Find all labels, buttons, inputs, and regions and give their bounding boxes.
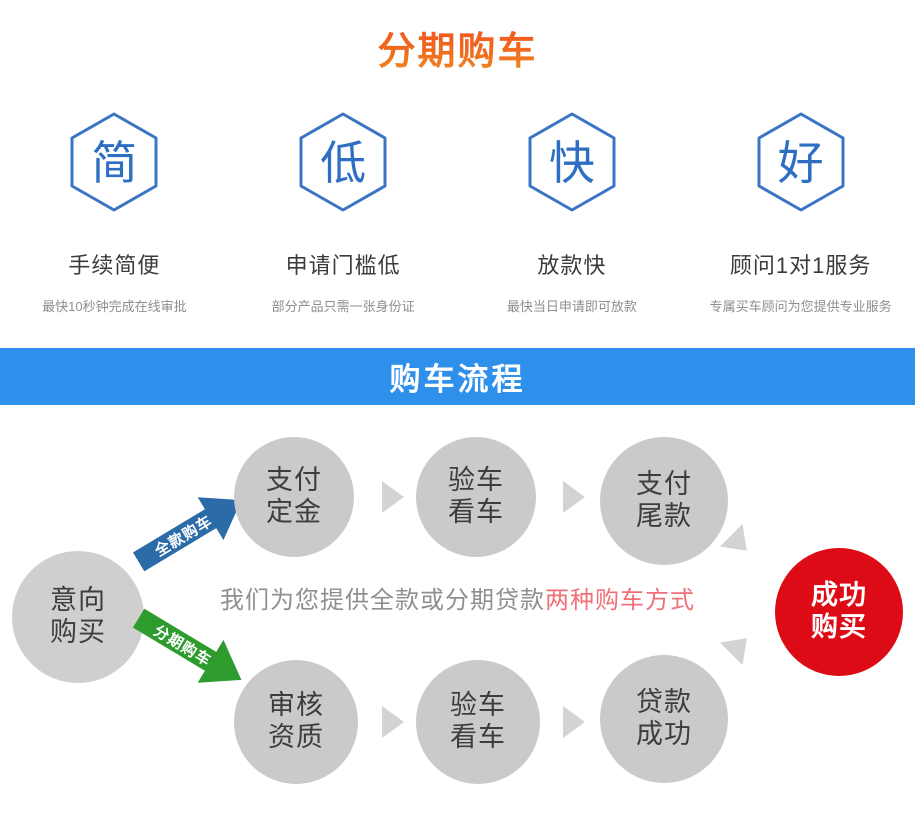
flow-node-start: 意向 购买	[12, 551, 144, 683]
page-title: 分期购车	[0, 20, 915, 75]
hexagon-char: 低	[320, 140, 366, 186]
feature-desc: 部分产品只需一张身份证	[272, 296, 415, 315]
flow-node-full-1: 支付 定金	[234, 437, 354, 557]
feature-desc: 最快10秒钟完成在线审批	[42, 296, 186, 315]
flow-node-line2: 成功	[636, 719, 692, 751]
flow-arrow-right-icon	[382, 481, 404, 513]
feature-title: 放款快	[537, 248, 606, 280]
feature-item: 快 放款快 最快当日申请即可放款	[458, 110, 687, 315]
feature-item: 简 手续简便 最快10秒钟完成在线审批	[0, 110, 229, 315]
flow-node-installment-3: 贷款 成功	[600, 655, 728, 783]
flow-center-note-highlight: 两种购车方式	[545, 587, 695, 614]
flow-node-line1: 审核	[268, 690, 324, 722]
hexagon-char: 简	[91, 140, 137, 186]
flow-arrow-diagonal-up-icon	[720, 627, 758, 665]
flow-node-line2: 看车	[450, 722, 506, 754]
section-banner-title: 购车流程	[390, 354, 526, 399]
flow-node-line2: 资质	[268, 722, 324, 754]
hexagon-low-icon: 低	[291, 110, 395, 214]
purchase-flow-diagram: 意向 购买 全款购车 分期购车 支付 定金 验车 看车	[0, 405, 915, 822]
flow-arrow-right-icon	[563, 481, 585, 513]
hexagon-fast-icon: 快	[520, 110, 624, 214]
feature-item: 低 申请门槛低 部分产品只需一张身份证	[229, 110, 458, 315]
flow-center-note-plain: 我们为您提供全款或分期贷款	[220, 587, 545, 614]
flow-node-line1: 验车	[450, 690, 506, 722]
hexagon-char: 快	[549, 140, 595, 186]
promo-page: 分期购车 简 手续简便 最快10秒钟完成在线审批 低 申请门槛低 部分产品只需一…	[0, 0, 915, 822]
flow-arrow-right-icon	[382, 706, 404, 738]
flow-node-installment-2: 验车 看车	[416, 660, 540, 784]
flow-node-line1: 贷款	[636, 687, 692, 719]
flow-node-line2: 定金	[266, 497, 322, 529]
flow-node-line2: 购买	[50, 617, 106, 649]
flow-node-installment-1: 审核 资质	[234, 660, 358, 784]
flow-arrow-diagonal-down-icon	[720, 524, 758, 562]
hexagon-good-icon: 好	[749, 110, 853, 214]
feature-desc: 专属买车顾问为您提供专业服务	[710, 296, 892, 315]
flow-node-line2: 尾款	[636, 501, 692, 533]
feature-title: 顾问1对1服务	[730, 248, 871, 280]
feature-list: 简 手续简便 最快10秒钟完成在线审批 低 申请门槛低 部分产品只需一张身份证 …	[0, 110, 915, 315]
feature-item: 好 顾问1对1服务 专属买车顾问为您提供专业服务	[686, 110, 915, 315]
hexagon-char: 好	[778, 140, 824, 186]
hexagon-simple-icon: 简	[62, 110, 166, 214]
flow-center-note: 我们为您提供全款或分期贷款两种购车方式	[0, 580, 915, 615]
flow-arrow-right-icon	[563, 706, 585, 738]
flow-node-full-2: 验车 看车	[416, 437, 536, 557]
flow-node-line1: 支付	[636, 469, 692, 501]
flow-node-line1: 验车	[448, 465, 504, 497]
section-banner: 购车流程	[0, 348, 915, 405]
flow-node-line1: 支付	[266, 465, 322, 497]
flow-node-full-3: 支付 尾款	[600, 437, 728, 565]
feature-title: 手续简便	[68, 248, 160, 280]
flow-node-line2: 看车	[448, 497, 504, 529]
feature-title: 申请门槛低	[286, 248, 401, 280]
feature-desc: 最快当日申请即可放款	[507, 296, 637, 315]
flow-node-line2: 购买	[811, 612, 867, 644]
